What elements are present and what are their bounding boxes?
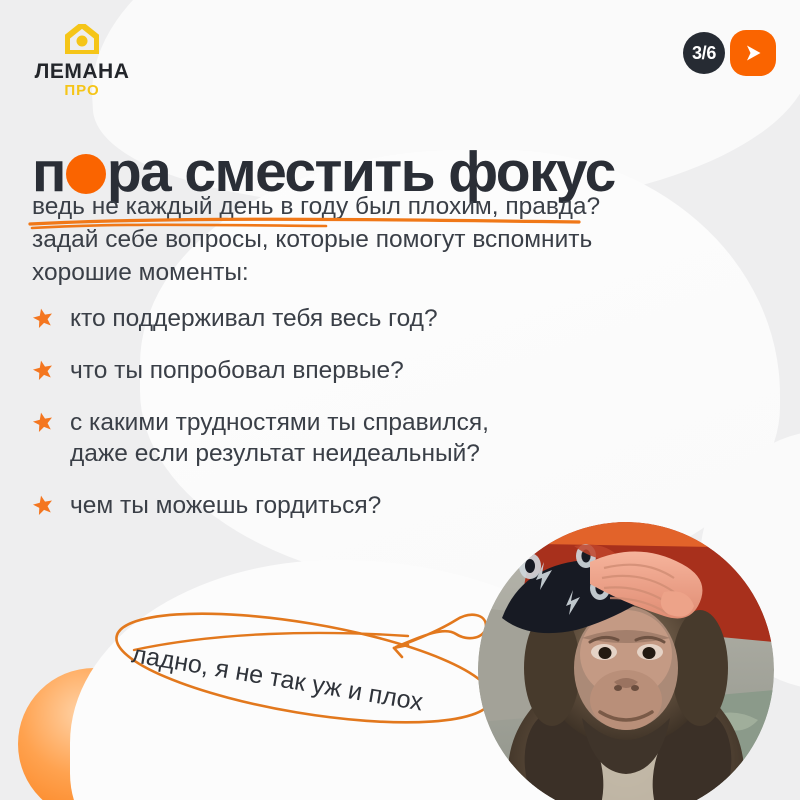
slide-counter-badge: 3/6: [683, 32, 725, 74]
brand-logo: ЛЕМАНА ПРО: [27, 24, 137, 98]
star-icon: [32, 307, 54, 329]
brand-name: ЛЕМАНА: [27, 61, 137, 82]
slide-indicator-group: 3/6: [683, 30, 776, 76]
orange-dot-letter-o-icon: [66, 154, 106, 194]
list-item: что ты попробовал впервые?: [32, 355, 632, 386]
yellow-blob-shape: [612, 308, 748, 444]
list-item-label: чем ты можешь гордиться?: [70, 490, 381, 521]
monkey-photo-image: [478, 522, 774, 800]
list-item: чем ты можешь гордиться?: [32, 490, 632, 521]
next-slide-button[interactable]: [730, 30, 776, 76]
list-item-label-line2: даже если результат неидеальный?: [70, 440, 480, 467]
list-item-label: с какими трудностями ты справился,: [70, 409, 489, 436]
slide-canvas: ЛЕМАНА ПРО 3/6 пра сместить фокус ведь н…: [0, 0, 800, 800]
brand-sub: ПРО: [27, 83, 137, 98]
list-item: с какими трудностями ты справился, даже …: [32, 407, 632, 469]
list-item: кто поддерживал тебя весь год?: [32, 303, 632, 334]
hand-drawn-underline-icon: [26, 213, 586, 231]
monkey-photo: [478, 522, 774, 800]
lead-line-3: хорошие моменты:: [32, 259, 249, 286]
star-icon: [32, 359, 54, 381]
question-list: кто поддерживал тебя весь год? что ты по…: [32, 303, 632, 542]
lead-emphasis-wrap: ведь не каждый день в году был плохим: [32, 193, 492, 220]
star-icon: [32, 411, 54, 433]
lead-paragraph: ведь не каждый день в году был плохим , …: [32, 190, 742, 289]
play-triangle-icon: [742, 42, 764, 64]
house-icon: [27, 24, 137, 58]
list-item-label: что ты попробовал впервые?: [70, 355, 404, 386]
star-icon: [32, 494, 54, 516]
list-item-label: кто поддерживал тебя весь год?: [70, 303, 438, 334]
